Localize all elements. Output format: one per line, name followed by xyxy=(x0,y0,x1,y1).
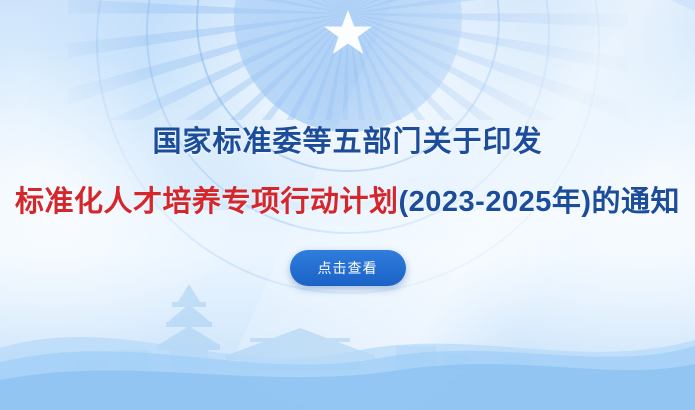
banner-title-line1: 国家标准委等五部门关于印发 xyxy=(152,118,542,160)
banner-title-line2: 标准化人才培养专项行动计划(2023-2025年)的通知 xyxy=(15,178,680,220)
banner-content: 国家标准委等五部门关于印发 标准化人才培养专项行动计划(2023-2025年)的… xyxy=(0,0,695,410)
banner-title-suffix: (2023-2025年)的通知 xyxy=(399,186,681,218)
banner-title-highlight: 标准化人才培养专项行动计划 xyxy=(15,186,399,218)
promo-banner: 国家标准委等五部门关于印发 标准化人才培养专项行动计划(2023-2025年)的… xyxy=(0,0,695,410)
view-details-button[interactable]: 点击查看 xyxy=(290,250,406,286)
